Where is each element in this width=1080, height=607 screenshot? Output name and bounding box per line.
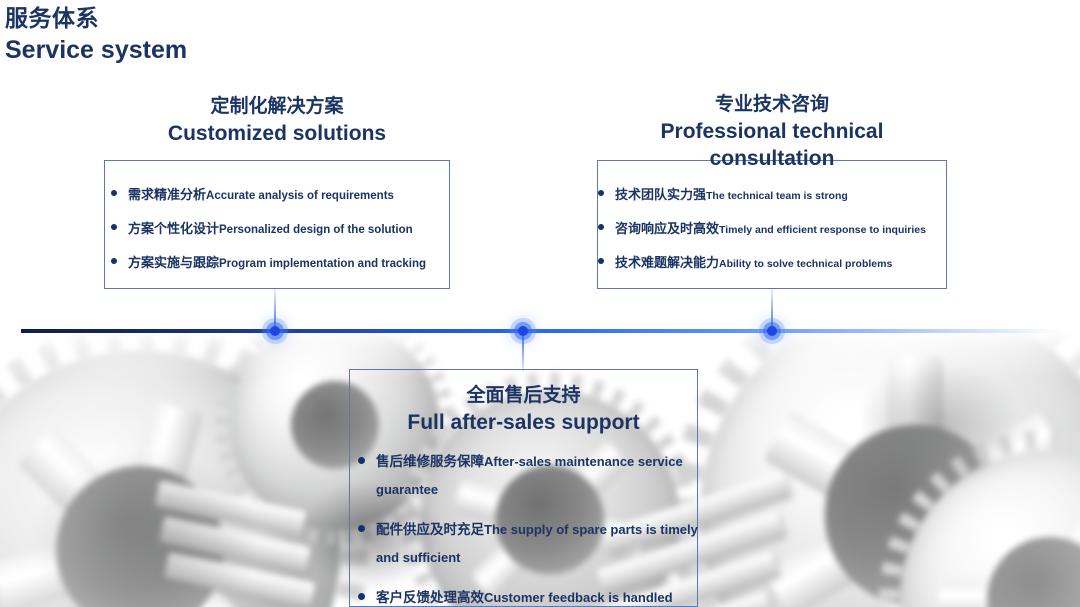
- list-item-text-cn: 需求精准分析: [128, 187, 206, 202]
- card-customized-solutions-heading-en: Customized solutions: [105, 120, 449, 148]
- list-item-text-en: Accurate analysis of requirements: [206, 190, 394, 202]
- card-professional-technical-consultation[interactable]: 专业技术咨询 Professional technical consultati…: [597, 160, 947, 289]
- card-customized-solutions-bullets: 需求精准分析Accurate analysis of requirements …: [111, 183, 467, 286]
- connector-card-full-after-sales-support: [522, 332, 524, 372]
- list-item-text-en: Personalized design of the solution: [219, 224, 413, 236]
- card-customized-solutions-heading: 定制化解决方案 Customized solutions: [105, 95, 449, 147]
- list-item-text-en: Program implementation and tracking: [219, 258, 426, 270]
- card-full-after-sales-support-heading: 全面售后支持 Full after-sales support: [350, 384, 697, 436]
- bullet-dot-icon: [358, 525, 365, 532]
- card-full-after-sales-support-heading-cn: 全面售后支持: [350, 384, 697, 409]
- list-item-text-cn: 方案实施与跟踪: [128, 255, 219, 270]
- bullet-dot-icon: [598, 190, 604, 196]
- list-item-text: 客户反馈处理高效Customer feedback is handled eff…: [376, 584, 708, 607]
- list-item: 配件供应及时充足The supply of spare parts is tim…: [358, 516, 708, 572]
- list-item-text: 技术难题解决能力Ability to solve technical probl…: [615, 251, 892, 274]
- timeline-axis: [21, 329, 1061, 333]
- list-item-text-cn: 方案个性化设计: [128, 221, 219, 236]
- card-professional-technical-consultation-heading: 专业技术咨询 Professional technical consultati…: [598, 93, 946, 173]
- marker-customized-solutions[interactable]: [270, 326, 280, 336]
- bullet-dot-icon: [598, 224, 604, 230]
- page-title-en: Service system: [5, 34, 187, 67]
- card-customized-solutions[interactable]: 定制化解决方案 Customized solutions 需求精准分析Accur…: [104, 160, 450, 289]
- page-title: 服务体系 Service system: [5, 4, 187, 66]
- list-item-text-cn: 技术难题解决能力: [615, 255, 719, 270]
- bullet-dot-icon: [358, 593, 365, 600]
- card-customized-solutions-heading-cn: 定制化解决方案: [105, 95, 449, 120]
- list-item-text: 配件供应及时充足The supply of spare parts is tim…: [376, 516, 708, 572]
- list-item-text: 售后维修服务保障After-sales maintenance service …: [376, 448, 708, 504]
- list-item: 需求精准分析Accurate analysis of requirements: [111, 183, 467, 206]
- list-item-text-en: The technical team is strong: [706, 190, 848, 202]
- list-item-text-cn: 技术团队实力强: [615, 187, 706, 202]
- list-item: 技术难题解决能力Ability to solve technical probl…: [598, 251, 954, 274]
- list-item-text-cn: 配件供应及时充足: [376, 522, 484, 537]
- list-item: 方案实施与跟踪Program implementation and tracki…: [111, 251, 467, 274]
- marker-professional-technical-consultation[interactable]: [767, 326, 777, 336]
- list-item-text-cn: 售后维修服务保障: [376, 454, 484, 469]
- list-item-text: 咨询响应及时高效Timely and efficient response to…: [615, 217, 926, 240]
- list-item-text: 方案实施与跟踪Program implementation and tracki…: [128, 251, 426, 274]
- card-full-after-sales-support-heading-en: Full after-sales support: [350, 409, 697, 437]
- list-item-text-cn: 客户反馈处理高效: [376, 590, 484, 605]
- list-item-text: 方案个性化设计Personalized design of the soluti…: [128, 217, 413, 240]
- list-item-text-en: Ability to solve technical problems: [719, 258, 892, 270]
- card-professional-technical-consultation-bullets: 技术团队实力强The technical team is strong 咨询响应…: [598, 183, 954, 286]
- list-item: 咨询响应及时高效Timely and efficient response to…: [598, 217, 954, 240]
- card-full-after-sales-support[interactable]: 全面售后支持 Full after-sales support 售后维修服务保障…: [349, 369, 698, 607]
- list-item: 售后维修服务保障After-sales maintenance service …: [358, 448, 708, 504]
- marker-full-after-sales-support[interactable]: [518, 326, 528, 336]
- bullet-dot-icon: [598, 258, 604, 264]
- list-item-text-cn: 咨询响应及时高效: [615, 221, 719, 236]
- slide-canvas: 服务体系 Service system 定制化解决方案 Customized s…: [0, 0, 1080, 607]
- list-item: 客户反馈处理高效Customer feedback is handled eff…: [358, 584, 708, 607]
- list-item-text: 需求精准分析Accurate analysis of requirements: [128, 183, 394, 206]
- bullet-dot-icon: [111, 258, 117, 264]
- bullet-dot-icon: [111, 224, 117, 230]
- card-professional-technical-consultation-heading-en: Professional technical consultation: [598, 118, 946, 173]
- list-item: 技术团队实力强The technical team is strong: [598, 183, 954, 206]
- list-item-text: 技术团队实力强The technical team is strong: [615, 183, 848, 206]
- bullet-dot-icon: [358, 457, 365, 464]
- card-full-after-sales-support-bullets: 售后维修服务保障After-sales maintenance service …: [358, 448, 708, 607]
- list-item-text-en: Timely and efficient response to inquiri…: [719, 224, 926, 236]
- page-title-cn: 服务体系: [5, 4, 187, 33]
- list-item: 方案个性化设计Personalized design of the soluti…: [111, 217, 467, 240]
- card-professional-technical-consultation-heading-cn: 专业技术咨询: [598, 93, 946, 118]
- bullet-dot-icon: [111, 190, 117, 196]
